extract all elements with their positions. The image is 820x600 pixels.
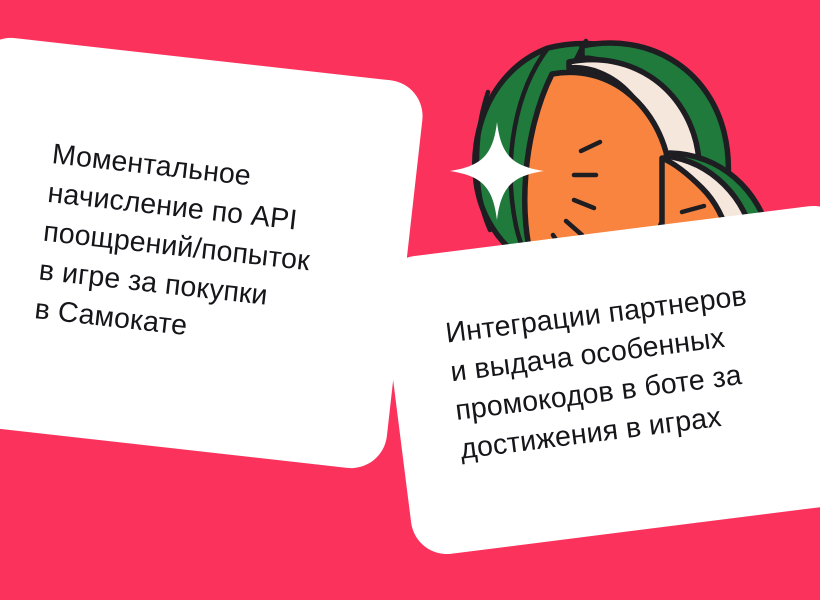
benefit-card-instant-accrual[interactable]: Моментальное начисление по API поощрений… xyxy=(0,34,426,472)
benefit-card-partner-integrations-text: Интеграции партнеров и выдача особенных … xyxy=(443,269,820,470)
benefit-card-instant-accrual-text: Моментальное начисление по API поощрений… xyxy=(33,135,383,366)
sparkle-star-icon xyxy=(450,122,544,220)
promo-slide: Моментальное начисление по API поощрений… xyxy=(0,0,820,600)
benefit-card-partner-integrations[interactable]: Интеграции партнеров и выдача особенных … xyxy=(378,202,820,559)
